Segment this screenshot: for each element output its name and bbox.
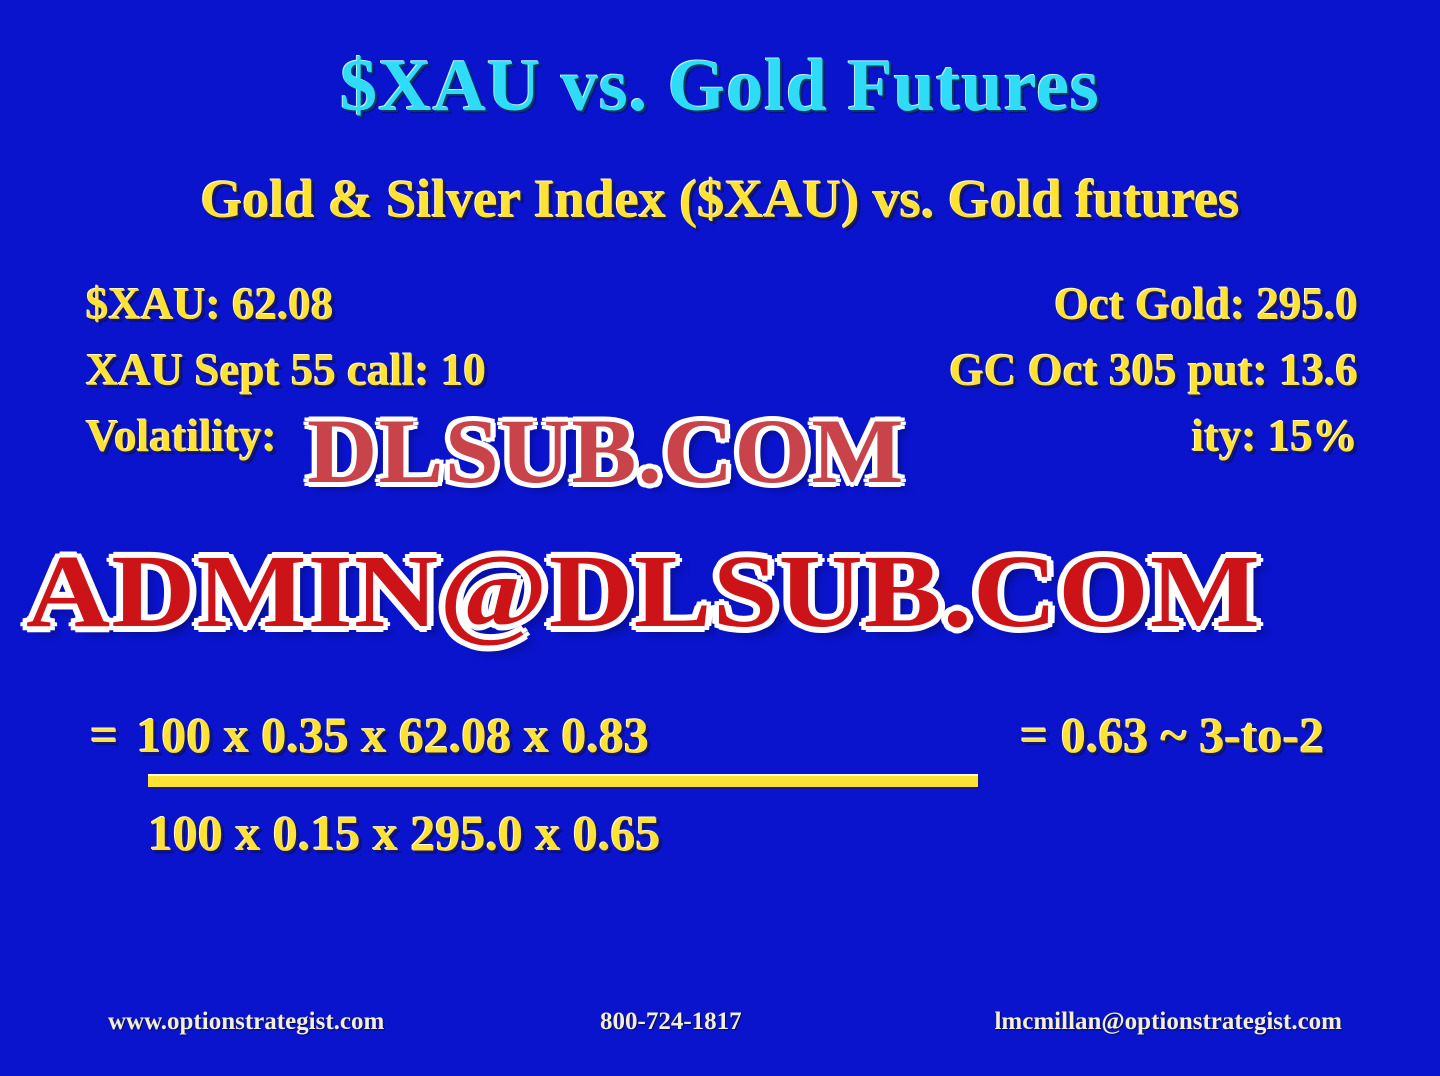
- slide-footer: www.optionstrategist.com 800-724-1817 lm…: [0, 1008, 1440, 1042]
- formula-fraction-bar: [148, 774, 978, 787]
- footer-phone: 800-724-1817: [600, 1008, 742, 1036]
- formula-equals-prefix: =: [90, 707, 119, 763]
- gold-volatility-label: ity: 15%: [1192, 410, 1358, 462]
- formula-result: = 0.63 ~ 3-to-2: [1020, 706, 1324, 764]
- slide-subtitle: Gold & Silver Index ($XAU) vs. Gold futu…: [0, 168, 1440, 230]
- gc-put-label: GC Oct 305 put: 13.6: [949, 344, 1358, 396]
- xau-price-label: $XAU: 62.08: [86, 278, 333, 330]
- slide-title: $XAU vs. Gold Futures: [0, 44, 1440, 129]
- quote-data-grid: $XAU: 62.08 Oct Gold: 295.0 XAU Sept 55 …: [78, 278, 1358, 476]
- xau-volatility-label: Volatility:: [86, 410, 277, 462]
- presentation-slide: $XAU vs. Gold Futures Gold & Silver Inde…: [0, 0, 1440, 1076]
- footer-website[interactable]: www.optionstrategist.com: [108, 1008, 384, 1036]
- xau-call-label: XAU Sept 55 call: 10: [86, 344, 486, 396]
- formula-denominator: 100 x 0.15 x 295.0 x 0.65: [148, 804, 661, 862]
- formula-numerator: 100 x 0.35 x 62.08 x 0.83: [137, 707, 650, 763]
- data-row: Volatility: ity: 15%: [78, 410, 1358, 476]
- watermark-admin-email: ADMIN@DLSUB.COM: [26, 532, 1261, 651]
- footer-email[interactable]: lmcmillan@optionstrategist.com: [994, 1008, 1342, 1036]
- data-row: $XAU: 62.08 Oct Gold: 295.0: [78, 278, 1358, 344]
- data-row: XAU Sept 55 call: 10 GC Oct 305 put: 13.…: [78, 344, 1358, 410]
- gold-price-label: Oct Gold: 295.0: [1054, 278, 1358, 330]
- formula-numerator-line: =100 x 0.35 x 62.08 x 0.83: [90, 706, 649, 764]
